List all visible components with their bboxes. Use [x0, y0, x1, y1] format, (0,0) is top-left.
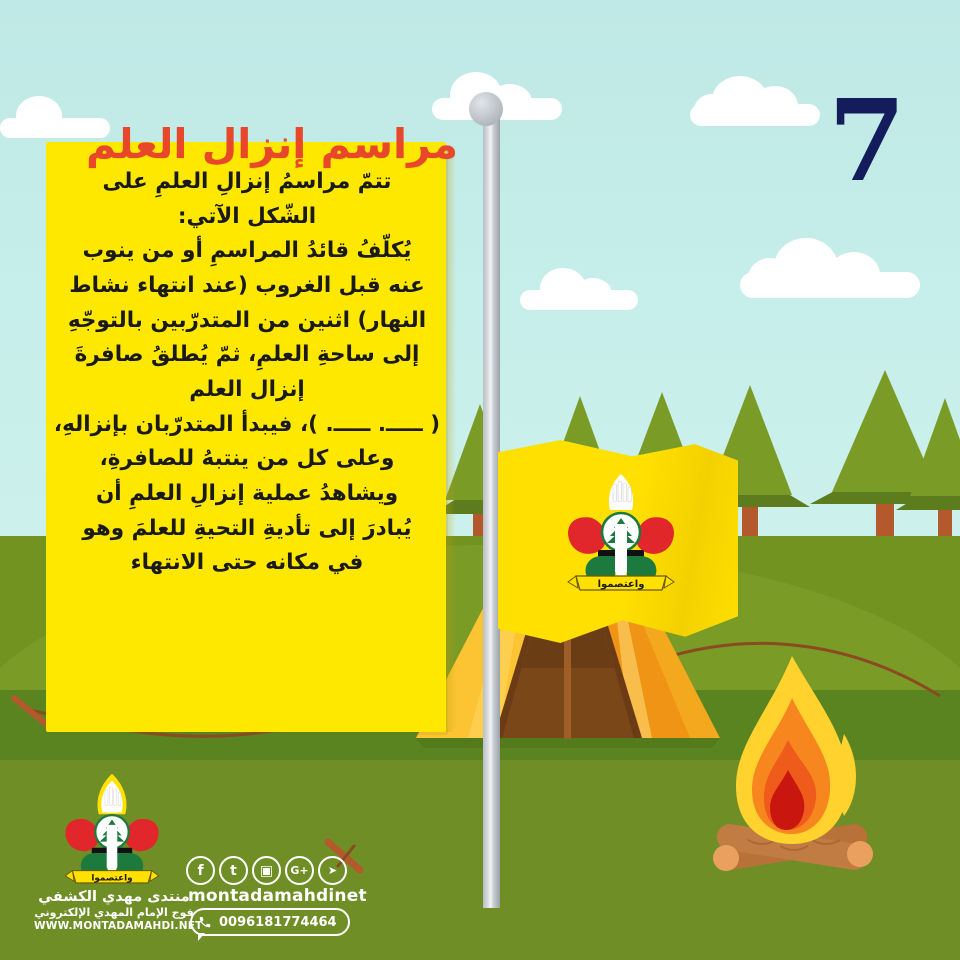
cloud-2 [690, 76, 820, 128]
body-line: الشّكل الآتي: [52, 201, 442, 234]
page-title: مراسم إنزال العلم [58, 123, 458, 166]
cloud-4 [740, 238, 920, 300]
body-line: عنه قبل الغروب (عند انتهاء نشاط [52, 270, 442, 303]
phone-bubble-tail [198, 933, 205, 941]
footer-caption: منتدى مهدي الكشفي فوج الإمام المهدي الإل… [34, 888, 194, 934]
org-subtitle: فوج الإمام المهدي الإلكتروني [34, 906, 194, 920]
instagram-icon[interactable]: ▣ [252, 856, 281, 885]
scout-emblem-flag: واعتصموا [562, 464, 680, 598]
emblem-motto-footer: واعتصموا [91, 873, 132, 883]
phone-badge[interactable]: 0096181774464 [190, 908, 350, 936]
org-website: WWW.MONTADAMAHDI.NET [34, 920, 194, 934]
twitter-icon[interactable]: t [219, 856, 248, 885]
flag-pole-finial [469, 92, 503, 126]
phone-icon [198, 915, 212, 929]
cloud-3 [520, 268, 638, 312]
body-text: تتمّ مراسمُ إنزالِ العلمِ على الشّكل الآ… [52, 166, 442, 582]
site-handle[interactable]: montadamahdinet [188, 886, 367, 906]
phone-number: 0096181774464 [219, 915, 337, 930]
body-line: ( ـــــ. ـــــ. )، فيبدأ المتدرّبان بإنز… [52, 409, 442, 442]
body-line: ويشاهدُ عملية إنزالِ العلمِ أن [52, 478, 442, 511]
body-line: إلى ساحةِ العلمِ، ثمّ يُطلقُ صافرةَ [52, 339, 442, 372]
social-links[interactable]: f t ▣ G+ ➤ [186, 856, 347, 885]
tree-6 [896, 398, 960, 548]
emblem-motto-flag: واعتصموا [598, 579, 645, 590]
googleplus-icon[interactable]: G+ [285, 856, 314, 885]
telegram-icon[interactable]: ➤ [318, 856, 347, 885]
flag-pole [483, 118, 500, 908]
body-line: تتمّ مراسمُ إنزالِ العلمِ على [52, 166, 442, 199]
body-line: النهار) اثنين من المتدرّبين بالتوجّهِ [52, 305, 442, 338]
body-line: إنزال العلم [52, 374, 442, 407]
campfire [708, 648, 878, 888]
body-line: يُبادرَ إلى تأديةِ التحيةِ للعلمَ وهو [52, 513, 442, 546]
body-line: في مكانه حتى الانتهاء [52, 547, 442, 580]
body-line: يُكلّفُ قائدُ المراسمِ أو من ينوب [52, 235, 442, 268]
poster-canvas: 7 [0, 0, 960, 960]
org-name: منتدى مهدي الكشفي [34, 888, 194, 906]
page-number: 7 [828, 86, 906, 198]
facebook-icon[interactable]: f [186, 856, 215, 885]
scout-emblem-footer: واعتصموا [56, 772, 168, 890]
body-line: وعلى كل من ينتبهُ للصافرةِ، [52, 443, 442, 476]
